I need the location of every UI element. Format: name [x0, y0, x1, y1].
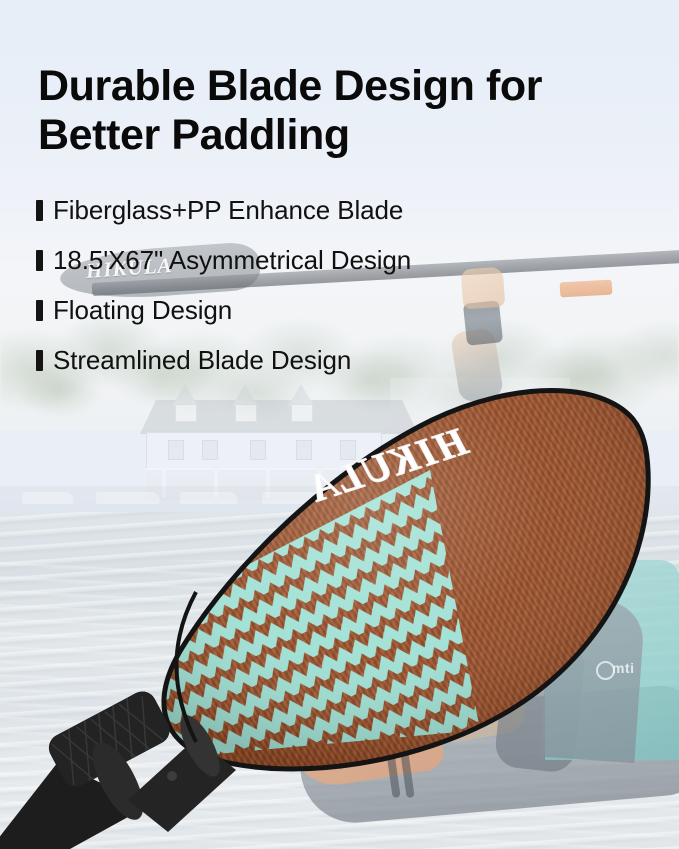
feature-item: 18.5'X67" Asymmetrical Design [36, 235, 656, 285]
bullet-marker-icon [36, 250, 43, 271]
feature-list: Fiberglass+PP Enhance Blade 18.5'X67" As… [36, 185, 656, 385]
bullet-marker-icon [36, 350, 43, 371]
feature-label: Fiberglass+PP Enhance Blade [53, 195, 403, 226]
headline-line-2: Better Paddling [38, 111, 638, 160]
ferrule-button [167, 771, 177, 781]
feature-label: Floating Design [53, 295, 232, 326]
feature-label: Streamlined Blade Design [53, 345, 351, 376]
feature-item: Fiberglass+PP Enhance Blade [36, 185, 656, 235]
feature-label: 18.5'X67" Asymmetrical Design [53, 245, 411, 276]
headline: Durable Blade Design for Better Paddling [38, 62, 638, 159]
feature-item: Streamlined Blade Design [36, 335, 656, 385]
bullet-marker-icon [36, 200, 43, 221]
feature-item: Floating Design [36, 285, 656, 335]
product-marketing-image: HIKULA mti [0, 0, 679, 849]
bullet-marker-icon [36, 300, 43, 321]
headline-line-1: Durable Blade Design for [38, 62, 638, 111]
